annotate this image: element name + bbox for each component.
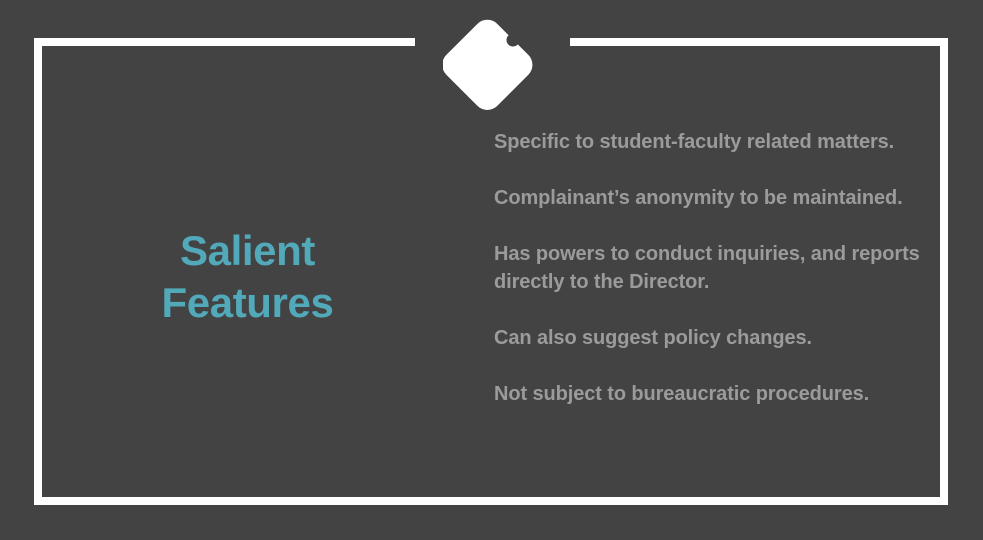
page-title-line-1: Salient [60, 225, 435, 277]
page-title: Salient Features [60, 225, 435, 329]
list-item: Has powers to conduct inquiries, and rep… [494, 240, 924, 296]
frame-border-right [940, 38, 948, 505]
salient-features-list: Specific to student-faculty related matt… [494, 128, 924, 408]
list-item: Can also suggest policy changes. [494, 324, 924, 352]
list-item: Specific to student-faculty related matt… [494, 128, 924, 156]
list-item: Not subject to bureaucratic procedures. [494, 380, 924, 408]
frame-border-left [34, 38, 42, 505]
frame-border-top-right [570, 38, 948, 46]
tag-icon [443, 14, 543, 110]
slide-canvas: Salient Features Specific to student-fac… [0, 0, 983, 540]
list-item: Complainant’s anonymity to be maintained… [494, 184, 924, 212]
page-title-line-2: Features [60, 277, 435, 329]
frame-border-bottom [34, 497, 948, 505]
frame-border-top-left [34, 38, 415, 46]
